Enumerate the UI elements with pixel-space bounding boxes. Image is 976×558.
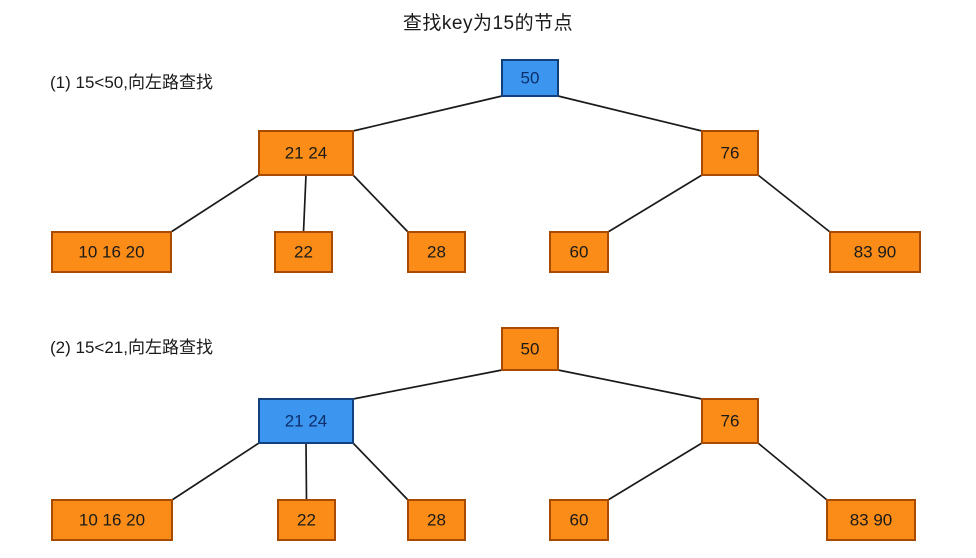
tree-edge-n76-to-n60 — [608, 443, 702, 500]
node-label: 60 — [570, 242, 589, 261]
node-label: 22 — [294, 242, 313, 261]
step-label-2: (2) 15<21,向左路查找 — [50, 333, 213, 358]
step-label-1: (1) 15<50,向左路查找 — [50, 68, 213, 93]
node-label: 28 — [427, 242, 446, 261]
node-label: 21 24 — [285, 411, 328, 430]
node-box[interactable] — [278, 500, 335, 540]
tree-node-n76[interactable]: 76 — [702, 399, 758, 443]
node-box[interactable] — [259, 131, 353, 175]
tree-edge-n2124-to-n28 — [353, 175, 408, 232]
tree-node-n28[interactable]: 28 — [408, 232, 465, 272]
tree-edge-root-to-n2124 — [353, 370, 502, 399]
node-label: 10 16 20 — [79, 510, 145, 529]
tree-edge-root-to-n76 — [558, 370, 702, 399]
tree-node-n2124[interactable]: 21 24 — [259, 399, 353, 443]
tree-edge-n2124-to-n101620 — [172, 443, 259, 500]
tree-node-root[interactable]: 50 — [502, 328, 558, 370]
tree-edge-root-to-n2124 — [353, 96, 502, 131]
node-box[interactable] — [52, 232, 171, 272]
node-label: 76 — [721, 411, 740, 430]
node-label: 83 90 — [854, 242, 897, 261]
node-label: 50 — [521, 339, 540, 358]
tree-node-n22[interactable]: 22 — [278, 500, 335, 540]
node-box[interactable] — [830, 232, 920, 272]
tree-edge-n76-to-n60 — [608, 175, 702, 232]
node-box[interactable] — [275, 232, 332, 272]
tree-node-n22[interactable]: 22 — [275, 232, 332, 272]
tree-node-n2124[interactable]: 21 24 — [259, 131, 353, 175]
node-label: 22 — [297, 510, 316, 529]
node-box[interactable] — [550, 500, 608, 540]
node-box[interactable] — [259, 399, 353, 443]
tree-node-n101620[interactable]: 10 16 20 — [52, 500, 172, 540]
tree-edge-n2124-to-n101620 — [171, 175, 259, 232]
node-box[interactable] — [408, 500, 465, 540]
tree-edge-n2124-to-n22 — [306, 443, 307, 500]
node-box[interactable] — [702, 399, 758, 443]
node-box[interactable] — [502, 60, 558, 96]
page-title: 查找key为15的节点 — [0, 8, 976, 35]
tree-node-n76[interactable]: 76 — [702, 131, 758, 175]
node-box[interactable] — [550, 232, 608, 272]
node-label: 21 24 — [285, 143, 328, 162]
tree-edge-n76-to-n8390 — [758, 175, 830, 232]
node-label: 83 90 — [850, 510, 893, 529]
node-box[interactable] — [52, 500, 172, 540]
tree-node-n8390[interactable]: 83 90 — [830, 232, 920, 272]
tree-node-n101620[interactable]: 10 16 20 — [52, 232, 171, 272]
node-label: 28 — [427, 510, 446, 529]
tree-edge-n2124-to-n22 — [304, 175, 307, 232]
tree-diagram-step-2: 5021 247610 16 2022286083 90 — [0, 268, 976, 558]
tree-node-n60[interactable]: 60 — [550, 232, 608, 272]
node-box[interactable] — [827, 500, 915, 540]
tree-edge-root-to-n76 — [558, 96, 702, 131]
node-label: 76 — [721, 143, 740, 162]
tree-node-n28[interactable]: 28 — [408, 500, 465, 540]
node-label: 60 — [570, 510, 589, 529]
tree-node-n8390[interactable]: 83 90 — [827, 500, 915, 540]
tree-edge-n76-to-n8390 — [758, 443, 827, 500]
node-box[interactable] — [702, 131, 758, 175]
tree-node-n60[interactable]: 60 — [550, 500, 608, 540]
node-label: 10 16 20 — [78, 242, 144, 261]
node-box[interactable] — [502, 328, 558, 370]
node-box[interactable] — [408, 232, 465, 272]
tree-diagram-step-1: 5021 247610 16 2022286083 90 — [0, 0, 976, 290]
tree-node-root[interactable]: 50 — [502, 60, 558, 96]
tree-edge-n2124-to-n28 — [353, 443, 408, 500]
node-label: 50 — [521, 68, 540, 87]
